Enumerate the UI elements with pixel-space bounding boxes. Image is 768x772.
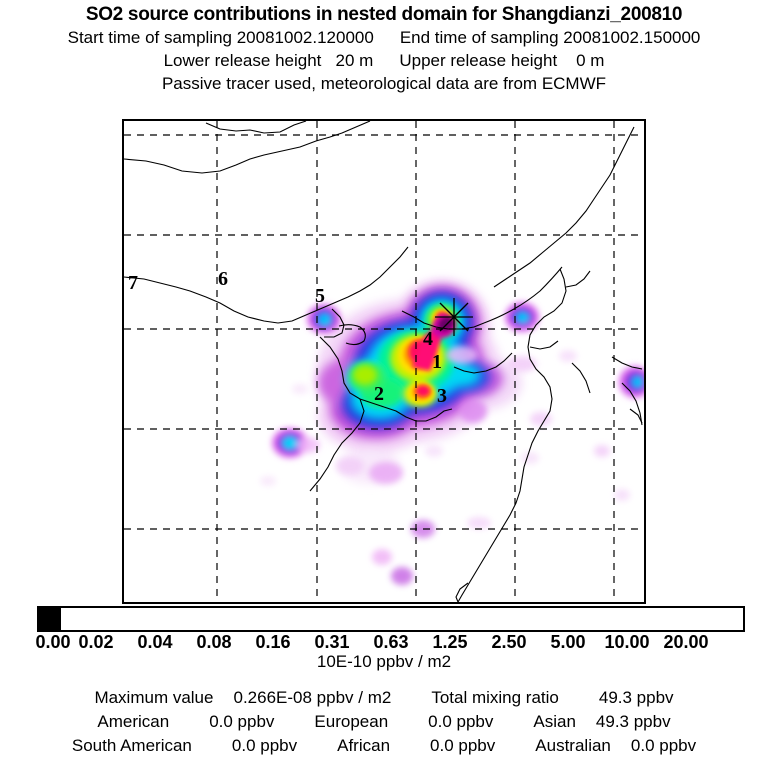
colorbar-tick-label: 2.50	[491, 632, 526, 653]
region-value-australian: 0.0 ppbv	[631, 736, 696, 755]
region-value-south-american: 0.0 ppbv	[232, 736, 297, 755]
colorbar-tick-label: 20.00	[663, 632, 708, 653]
tracer-info-label: Passive tracer used, meteorological data…	[0, 72, 768, 95]
colorbar-tick-label: 10.00	[604, 632, 649, 653]
total-mixing-label: Total mixing ratio	[431, 688, 559, 707]
colorbar-unit-label: 10E-10 ppbv / m2	[0, 652, 768, 672]
region-name-european: European	[314, 712, 388, 731]
upper-release-height-label: Upper release height 0 m	[399, 51, 604, 70]
colorbar-tick-label: 0.04	[137, 632, 172, 653]
region-name-american: American	[97, 712, 169, 731]
map-label-3: 3	[437, 386, 447, 406]
region-value-asian: 49.3 ppbv	[596, 712, 671, 731]
statistics-block: Maximum value0.266E-08 ppbv / m2Total mi…	[0, 686, 768, 758]
page-title: SO2 source contributions in nested domai…	[0, 4, 768, 26]
max-value-label: Maximum value	[94, 688, 213, 707]
region-name-south-american: South American	[72, 736, 192, 755]
region-name-australian: Australian	[535, 736, 611, 755]
colorbar-tick-label: 0.08	[196, 632, 231, 653]
map-label-5: 5	[315, 286, 325, 306]
colorbar-tick-label: 0.02	[78, 632, 113, 653]
stats-row-2: South American0.0 ppbvAfrican0.0 ppbvAus…	[0, 734, 768, 758]
end-time-label: End time of sampling 20081002.150000	[400, 28, 701, 47]
colorbar[interactable]	[37, 606, 745, 632]
map-label-1: 1	[432, 352, 442, 372]
region-name-asian: Asian	[533, 712, 576, 731]
colorbar-tick-label: 0.63	[373, 632, 408, 653]
lower-release-height-label: Lower release height 20 m	[164, 51, 374, 70]
map-gridlines	[124, 121, 644, 602]
stats-row-max: Maximum value0.266E-08 ppbv / m2Total mi…	[0, 686, 768, 710]
colorbar-tick-label: 1.25	[432, 632, 467, 653]
colorbar-tick-label: 0.00	[35, 632, 70, 653]
region-name-african: African	[337, 736, 390, 755]
map-label-6: 6	[218, 269, 228, 289]
release-height-row: Lower release height 20 mUpper release h…	[0, 49, 768, 72]
star-marker	[433, 296, 475, 338]
stats-row-1: American0.0 ppbvEuropean0.0 ppbvAsian49.…	[0, 710, 768, 734]
header-block: SO2 source contributions in nested domai…	[0, 4, 768, 95]
colorbar-tick-label: 5.00	[550, 632, 585, 653]
total-mixing-value: 49.3 ppbv	[599, 688, 674, 707]
map-plot-area[interactable]: 1 2 3 4 5 6 7	[122, 119, 646, 604]
region-value-american: 0.0 ppbv	[209, 712, 274, 731]
start-time-label: Start time of sampling 20081002.120000	[68, 28, 374, 47]
map-label-4: 4	[423, 329, 433, 349]
colorbar-tick-labels: 0.000.020.040.080.160.310.631.252.505.00…	[37, 632, 745, 654]
map-label-2: 2	[374, 384, 384, 404]
colorbar-tick-label: 0.31	[314, 632, 349, 653]
max-value: 0.266E-08 ppbv / m2	[233, 688, 391, 707]
map-label-7: 7	[128, 273, 138, 293]
colorbar-tick-label: 0.16	[255, 632, 290, 653]
colorbar-block: 0.000.020.040.080.160.310.631.252.505.00…	[37, 606, 745, 632]
colorbar-band	[59, 608, 61, 630]
region-value-african: 0.0 ppbv	[430, 736, 495, 755]
region-value-european: 0.0 ppbv	[428, 712, 493, 731]
sampling-time-row: Start time of sampling 20081002.120000En…	[0, 26, 768, 49]
